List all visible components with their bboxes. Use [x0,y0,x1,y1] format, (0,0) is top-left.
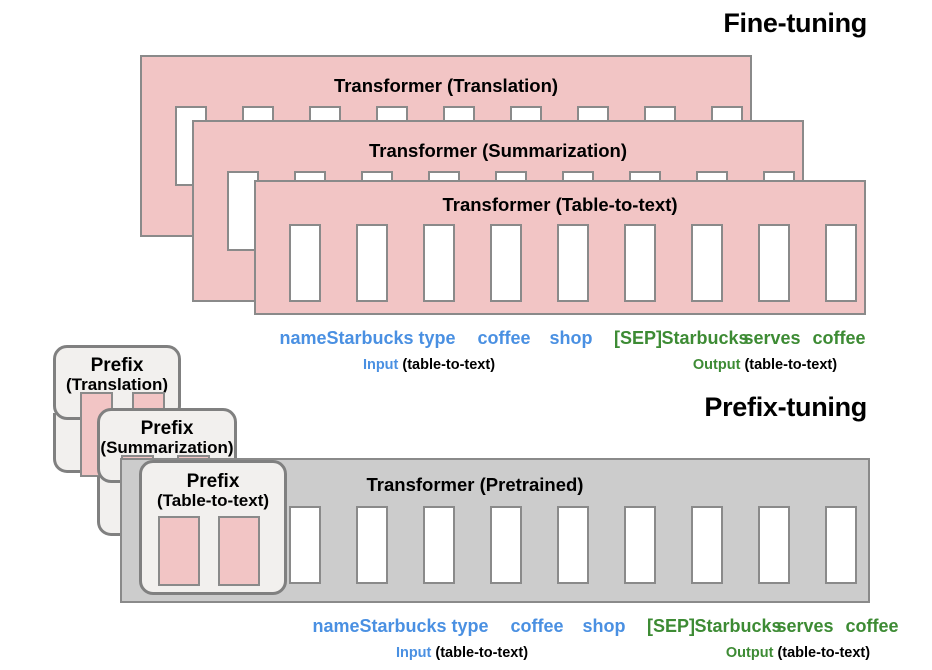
input-caption-word: Input [363,357,398,373]
prefix-tuning-title: Prefix-tuning [704,392,867,423]
token-slot [289,506,321,584]
token-slot [423,224,455,302]
input-caption-fine-tuning: Input (table-to-text) [254,357,604,373]
token-slot [557,506,589,584]
output-caption-word: Output [726,645,774,661]
output-caption-rest: (table-to-text) [740,357,837,373]
token-slot [490,506,522,584]
token-slot [825,506,857,584]
output-caption-rest: (table-to-text) [773,645,870,661]
token-slot [758,224,790,302]
token-row-fine-tuning: nameStarbuckstypecoffeeshop[SEP]Starbuck… [254,328,866,350]
prefix-card-summarization-label: Prefix (Summarization) [100,419,234,456]
prefix-card-table-to-text: Prefix (Table-to-text) [139,460,287,595]
token-slot [758,506,790,584]
output-caption-prefix-tuning: Output (table-to-text) [633,645,932,661]
token-slot [356,506,388,584]
prefix-bar [158,516,200,586]
prefix-card-translation-label: Prefix (Translation) [56,356,178,393]
token-label: coffee [779,328,899,349]
transformer-panel-summarization-label: Transformer (Summarization) [194,140,802,162]
token-slot [490,224,522,302]
token-label: coffee [812,616,932,637]
prefix-label-line1: Prefix [100,419,234,439]
token-slot [423,506,455,584]
token-slot [356,224,388,302]
prefix-card-table-to-text-label: Prefix (Table-to-text) [142,472,284,509]
token-slot [691,506,723,584]
input-caption-rest: (table-to-text) [398,357,495,373]
transformer-panel-translation-label: Transformer (Translation) [142,75,750,97]
prefix-bar [218,516,260,586]
prefix-label-line1: Prefix [142,472,284,492]
output-caption-word: Output [693,357,741,373]
transformer-panel-table-to-text-label: Transformer (Table-to-text) [256,194,864,216]
token-slot [691,224,723,302]
input-caption-word: Input [396,645,431,661]
prefix-label-line2: (Table-to-text) [142,492,284,510]
prefix-label-line2: (Translation) [56,376,178,394]
token-slot [624,506,656,584]
output-caption-fine-tuning: Output (table-to-text) [600,357,930,373]
transformer-panel-pretrained-label: Transformer (Pretrained) [262,474,688,496]
figure-root: Fine-tuning Transformer (Translation) Tr… [0,0,932,670]
token-slot [624,224,656,302]
transformer-panel-table-to-text: Transformer (Table-to-text) [254,180,866,315]
fine-tuning-title: Fine-tuning [723,8,867,39]
token-slot [289,224,321,302]
token-slot [825,224,857,302]
token-slot [557,224,589,302]
token-row-prefix-tuning: nameStarbuckstypecoffeeshop[SEP]Starbuck… [287,616,899,638]
prefix-label-line1: Prefix [56,356,178,376]
input-caption-rest: (table-to-text) [431,645,528,661]
input-caption-prefix-tuning: Input (table-to-text) [287,645,637,661]
prefix-label-line2: (Summarization) [100,439,234,457]
